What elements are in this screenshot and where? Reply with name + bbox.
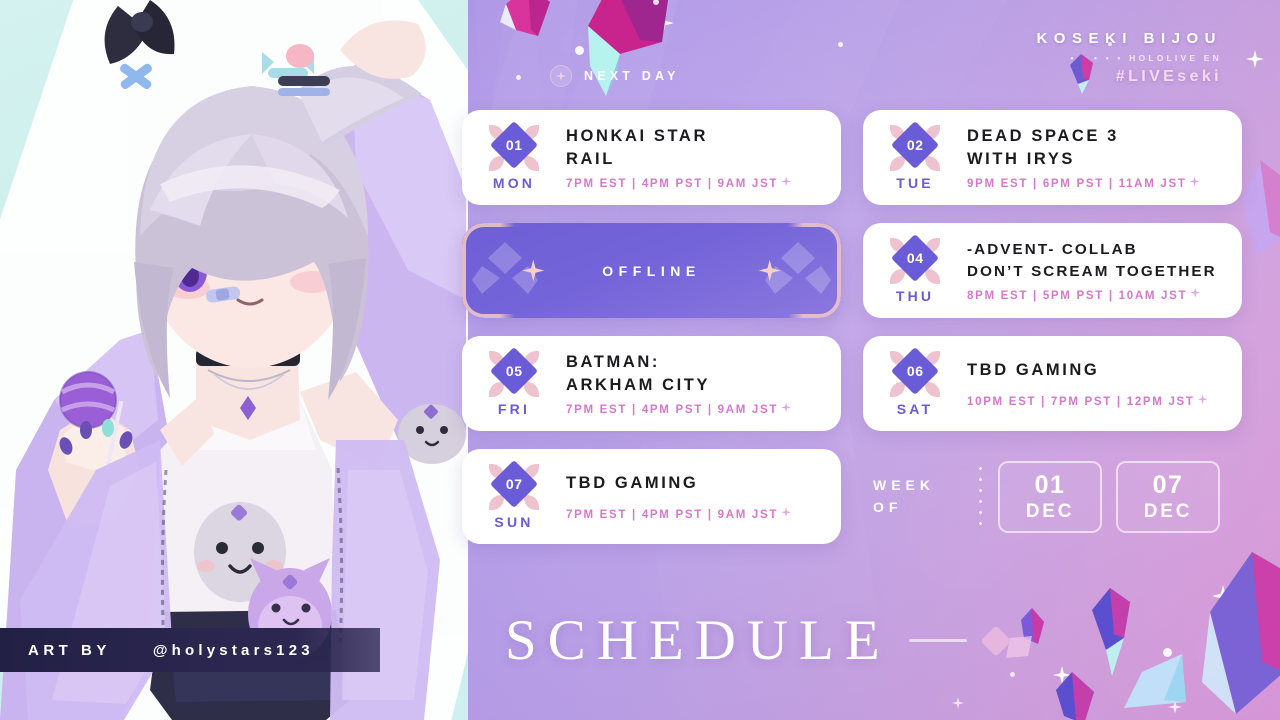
offline-banner[interactable]: OFFLINE xyxy=(462,223,841,318)
day-number: 06 xyxy=(907,362,924,378)
diamond-day-badge: 05 xyxy=(488,351,540,397)
day-column: 01 MON xyxy=(476,125,552,191)
next-day-label: NEXT DAY xyxy=(584,69,680,83)
art-credit-handle: @holystars123 xyxy=(153,642,314,659)
week-end-date-box: 07 DEC xyxy=(1116,461,1220,533)
stream-info: DEAD SPACE 3 WITH IRYS 9PM EST | 6PM PST… xyxy=(953,125,1226,191)
schedule-card-fri[interactable]: 05 FRI BATMAN: ARKHAM CITY 7PM EST | 4PM… xyxy=(462,336,841,431)
stream-title-line: HONKAI STAR xyxy=(566,125,825,148)
schedule-card-sat[interactable]: 06 SAT TBD GAMING 10PM EST | 7PM PST | 1… xyxy=(863,336,1242,431)
day-column: 05 FRI xyxy=(476,351,552,417)
brand-subtitle: • • • • • HOLOLIVE EN xyxy=(1036,53,1222,63)
next-day-sparkle-icon xyxy=(1198,394,1208,404)
day-column: 06 SAT xyxy=(877,351,953,417)
character-illustration xyxy=(0,0,468,720)
petal-icon xyxy=(524,382,539,397)
crystal-icon xyxy=(1196,552,1280,720)
stream-times: 7PM EST | 4PM PST | 9AM JST xyxy=(566,404,825,416)
next-day-sparkle-icon xyxy=(1190,288,1200,298)
day-number: 02 xyxy=(907,136,924,152)
petal-icon xyxy=(925,269,940,284)
stream-title-line: TBD GAMING xyxy=(967,359,1226,382)
stream-times: 7PM EST | 4PM PST | 9AM JST xyxy=(566,509,825,521)
diamond-day-badge: 01 xyxy=(488,125,540,171)
day-label: TUE xyxy=(896,175,934,191)
next-day-sparkle-icon xyxy=(1190,176,1200,186)
day-column: 07 SUN xyxy=(476,464,552,530)
day-number: 04 xyxy=(907,249,924,265)
dotted-divider xyxy=(979,463,982,531)
week-start-date-box: 01 DEC xyxy=(998,461,1102,533)
day-label: FRI xyxy=(498,401,530,417)
divider-rule xyxy=(909,639,967,642)
week-end-month: DEC xyxy=(1144,502,1193,521)
week-start-month: DEC xyxy=(1026,502,1075,521)
crystal-icon xyxy=(498,0,552,56)
petal-icon xyxy=(524,156,539,171)
week-end-day: 07 xyxy=(1153,473,1184,498)
week-start-day: 01 xyxy=(1035,473,1066,498)
petal-icon xyxy=(925,156,940,171)
day-number: 07 xyxy=(506,475,523,491)
day-label: THU xyxy=(896,288,934,304)
day-column: 04 THU xyxy=(877,238,953,304)
stream-info: TBD GAMING 10PM EST | 7PM PST | 12PM JST xyxy=(953,359,1226,408)
stream-title-line: -ADVENT- COLLAB xyxy=(967,239,1226,261)
brand-name: KOSEKI BIJOU xyxy=(1036,30,1222,47)
stream-info: HONKAI STAR RAIL 7PM EST | 4PM PST | 9AM… xyxy=(552,125,825,191)
sparkle-icon xyxy=(556,71,566,81)
stream-times-text: 10PM EST | 7PM PST | 12PM JST xyxy=(967,396,1195,408)
crystal-icon xyxy=(570,0,680,106)
stream-times: 9PM EST | 6PM PST | 11AM JST xyxy=(967,178,1226,190)
stream-times-text: 9PM EST | 6PM PST | 11AM JST xyxy=(967,178,1187,190)
crystal-icon xyxy=(1052,672,1098,720)
stream-times: 10PM EST | 7PM PST | 12PM JST xyxy=(967,396,1226,408)
stream-times-text: 7PM EST | 4PM PST | 9AM JST xyxy=(566,178,778,190)
art-credit-label: ART BY xyxy=(28,642,111,659)
offline-label: OFFLINE xyxy=(602,263,700,279)
diamond-day-badge: 02 xyxy=(889,125,941,171)
schedule-title: SCHEDULE xyxy=(505,612,1007,669)
day-number: 05 xyxy=(506,362,523,378)
day-label: SUN xyxy=(494,514,533,530)
crystal-icon xyxy=(1068,54,1094,94)
next-day-legend: NEXT DAY xyxy=(550,65,680,87)
artwork-panel: ART BY @holystars123 xyxy=(0,0,468,720)
stream-info: BATMAN: ARKHAM CITY 7PM EST | 4PM PST | … xyxy=(552,351,825,417)
stream-times-text: 8PM EST | 5PM PST | 10AM JST xyxy=(967,290,1187,302)
diamond-day-badge: 07 xyxy=(488,464,540,510)
schedule-title-word: SCHEDULE xyxy=(505,612,891,669)
day-label: MON xyxy=(493,175,535,191)
petal-icon xyxy=(524,495,539,510)
week-of-label: WEEK OF xyxy=(873,475,977,518)
stream-title-line: TBD GAMING xyxy=(566,472,825,495)
brand-block: KOSEKI BIJOU • • • • • HOLOLIVE EN #LIVE… xyxy=(1036,30,1222,86)
diamond-icon xyxy=(980,625,1011,656)
stream-times-text: 7PM EST | 4PM PST | 9AM JST xyxy=(566,509,778,521)
week-of-block: WEEK OF 01 DEC 07 DEC xyxy=(863,449,1242,544)
stream-title-line: DON’T SCREAM TOGETHER xyxy=(967,261,1226,283)
next-day-sparkle-icon xyxy=(781,402,791,412)
week-of-label-line2: OF xyxy=(873,497,977,519)
art-credit-bar: ART BY @holystars123 xyxy=(0,628,380,672)
schedule-card-sun[interactable]: 07 SUN TBD GAMING 7PM EST | 4PM PST | 9A… xyxy=(462,449,841,544)
stream-times: 8PM EST | 5PM PST | 10AM JST xyxy=(967,290,1226,302)
petal-icon xyxy=(925,382,940,397)
stream-title-line: ARKHAM CITY xyxy=(566,374,825,397)
schedule-card-mon[interactable]: 01 MON HONKAI STAR RAIL 7PM EST | 4PM PS… xyxy=(462,110,841,205)
next-day-sparkle-icon xyxy=(781,507,791,517)
schedule-card-thu[interactable]: 04 THU -ADVENT- COLLAB DON’T SCREAM TOGE… xyxy=(863,223,1242,318)
day-label: SAT xyxy=(897,401,934,417)
stream-info: -ADVENT- COLLAB DON’T SCREAM TOGETHER 8P… xyxy=(953,239,1226,301)
schedule-card-tue[interactable]: 02 TUE DEAD SPACE 3 WITH IRYS 9PM EST | … xyxy=(863,110,1242,205)
next-day-sparkle-icon xyxy=(781,176,791,186)
diamond-day-badge: 04 xyxy=(889,238,941,284)
stream-times: 7PM EST | 4PM PST | 9AM JST xyxy=(566,178,825,190)
stream-times-text: 7PM EST | 4PM PST | 9AM JST xyxy=(566,404,778,416)
schedule-grid: 01 MON HONKAI STAR RAIL 7PM EST | 4PM PS… xyxy=(462,110,1252,544)
brand-hashtag: #LIVEseki xyxy=(1036,68,1222,86)
next-day-badge xyxy=(550,65,572,87)
stream-info: TBD GAMING 7PM EST | 4PM PST | 9AM JST xyxy=(552,472,825,521)
stream-title-line: RAIL xyxy=(566,148,825,171)
day-column: 02 TUE xyxy=(877,125,953,191)
stream-title-line: BATMAN: xyxy=(566,351,825,374)
stream-title-line: WITH IRYS xyxy=(967,148,1226,171)
schedule-graphic: KOSEKI BIJOU • • • • • HOLOLIVE EN #LIVE… xyxy=(0,0,1280,720)
crystal-icon xyxy=(1108,632,1188,712)
day-number: 01 xyxy=(506,136,523,152)
week-of-label-line1: WEEK xyxy=(873,475,977,497)
diamond-day-badge: 06 xyxy=(889,351,941,397)
stream-title-line: DEAD SPACE 3 xyxy=(967,125,1226,148)
